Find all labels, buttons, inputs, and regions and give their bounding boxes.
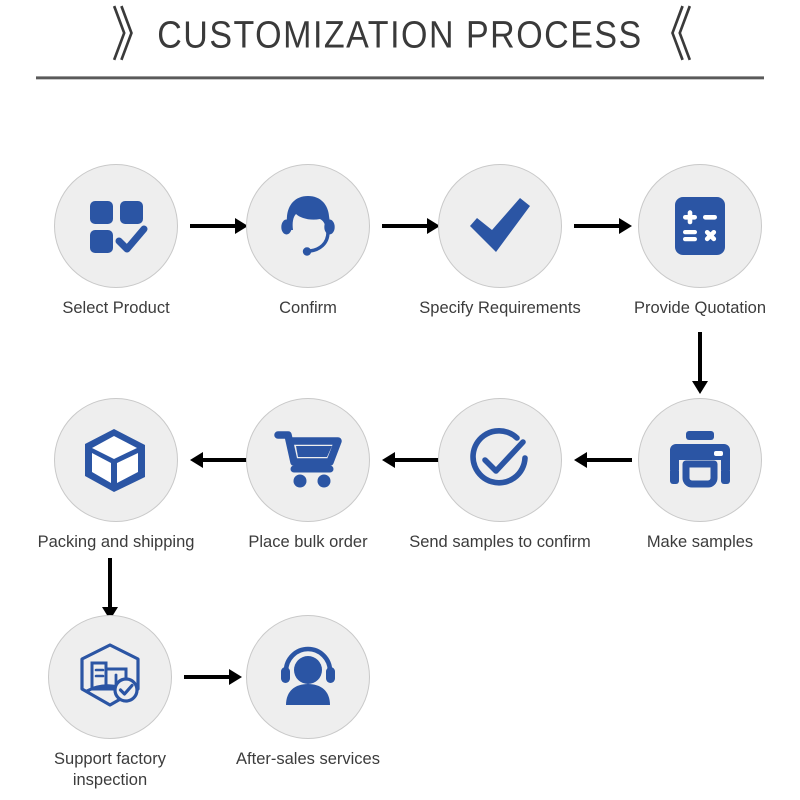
step-label: Place bulk order: [205, 532, 411, 553]
step-icon-circle: [438, 164, 562, 288]
step-label: Packing and shipping: [13, 532, 219, 553]
step-icon-circle: [48, 615, 172, 739]
process-step-provide-quotation[interactable]: Provide Quotation: [638, 164, 762, 319]
arrow-shaft: [395, 458, 440, 462]
process-step-select-product[interactable]: Select Product: [54, 164, 178, 319]
package-box-icon: [80, 424, 152, 496]
calculator-icon: [667, 193, 733, 259]
arrow-head: [692, 381, 708, 394]
process-step-confirm[interactable]: Confirm: [246, 164, 370, 319]
step-icon-circle: [638, 398, 762, 522]
title-divider: [36, 76, 764, 80]
connector-arrow-down-1: [692, 332, 708, 394]
check-circle-icon: [463, 423, 537, 497]
step-label: Provide Quotation: [597, 298, 800, 319]
process-step-send-samples-to-confirm[interactable]: Send samples to confirm: [438, 398, 562, 553]
arrow-head: [382, 452, 395, 468]
step-label: Specify Requirements: [397, 298, 603, 319]
connector-arrow-left-2: [382, 452, 440, 468]
connector-arrow-down-2: [102, 558, 118, 620]
agent-headset-icon: [272, 190, 344, 262]
arrow-shaft: [108, 558, 112, 607]
step-icon-circle: [54, 398, 178, 522]
arrow-shaft: [190, 224, 235, 228]
arrow-shaft: [698, 332, 702, 381]
arrow-head: [574, 452, 587, 468]
step-label: Send samples to confirm: [397, 532, 603, 553]
step-label: Make samples: [612, 532, 788, 553]
printer-icon: [664, 424, 736, 496]
connector-arrow-right-1: [190, 218, 248, 234]
step-icon-circle: [438, 398, 562, 522]
customization-process-infographic: 》 CUSTOMIZATION PROCESS 《 Select Product: [0, 0, 800, 800]
arrow-shaft: [203, 458, 248, 462]
arrow-shaft: [587, 458, 632, 462]
arrow-head: [619, 218, 632, 234]
connector-arrow-left-3: [574, 452, 632, 468]
page-header: 》 CUSTOMIZATION PROCESS 《: [0, 0, 800, 92]
title-row: 》 CUSTOMIZATION PROCESS 《: [0, 12, 800, 58]
arrow-head: [229, 669, 242, 685]
connector-arrow-left-1: [190, 452, 248, 468]
page-title: CUSTOMIZATION PROCESS: [157, 10, 643, 59]
grid-check-icon: [82, 192, 150, 260]
process-step-packing-and-shipping[interactable]: Packing and shipping: [54, 398, 178, 553]
left-chevron-icon: 》: [111, 6, 153, 65]
shopping-cart-icon: [272, 424, 344, 496]
arrow-shaft: [574, 224, 619, 228]
process-step-make-samples[interactable]: Make samples: [638, 398, 762, 553]
right-chevron-icon: 《: [647, 6, 689, 65]
step-icon-circle: [246, 398, 370, 522]
connector-arrow-right-2: [382, 218, 440, 234]
step-icon-circle: [246, 615, 370, 739]
process-step-specify-requirements[interactable]: Specify Requirements: [438, 164, 562, 319]
process-step-support-factory-inspection[interactable]: Support factory inspection: [48, 615, 172, 791]
arrow-head: [190, 452, 203, 468]
headset-person-icon: [272, 641, 344, 713]
arrow-shaft: [184, 675, 229, 679]
step-label: Support factory inspection: [22, 749, 198, 791]
step-label: After-sales services: [205, 749, 411, 770]
step-label: Confirm: [220, 298, 396, 319]
arrow-shaft: [382, 224, 427, 228]
step-label: Select Product: [28, 298, 204, 319]
connector-arrow-right-4: [184, 669, 242, 685]
step-icon-circle: [246, 164, 370, 288]
factory-inspection-badge-icon: [72, 639, 148, 715]
step-icon-circle: [638, 164, 762, 288]
process-step-after-sales-services[interactable]: After-sales services: [246, 615, 370, 770]
connector-arrow-right-3: [574, 218, 632, 234]
process-step-place-bulk-order[interactable]: Place bulk order: [246, 398, 370, 553]
step-icon-circle: [54, 164, 178, 288]
checkmark-icon: [464, 190, 536, 262]
